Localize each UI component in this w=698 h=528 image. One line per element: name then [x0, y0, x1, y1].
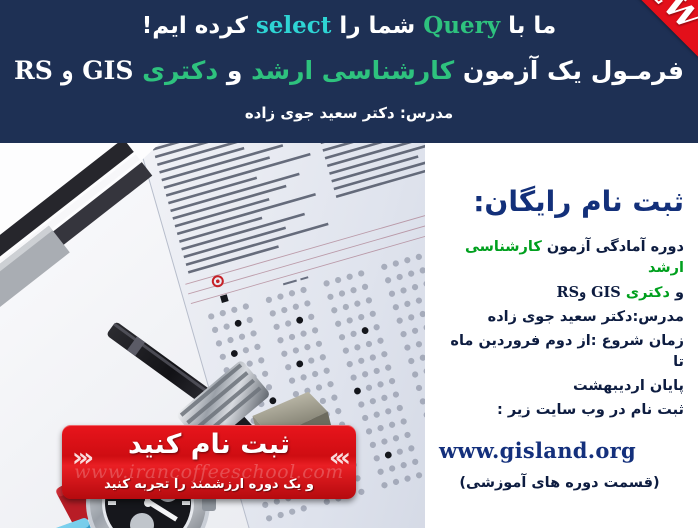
header-instructor-line: مدرس: دکتر سعید جوی زاده [0, 106, 698, 121]
panel-start-date-line-2: پایان اردیبهشت [435, 376, 684, 398]
headline2-part1: فرمـول یک آزمون [454, 56, 684, 85]
register-cta-subtitle: و یک دوره ارزشمند را تجربه کنید [62, 477, 356, 492]
headline1-part2: شما را [331, 13, 423, 39]
header-headline-1: ما با Query شما را select کرده ایم! [0, 14, 698, 38]
header-banner: ما با Query شما را select کرده ایم! فرمـ… [0, 0, 698, 143]
course-line-1-part1: دوره آمادگی آزمون [542, 239, 684, 255]
headline1-part3: کرده ایم! [142, 13, 256, 39]
info-panel: ثبت نام رایگان: دوره آمادگی آزمون کارشنا… [425, 143, 698, 528]
course-line-2-part2: GIS وRS [557, 284, 626, 301]
panel-body: دوره آمادگی آزمون کارشناسی ارشد و دکتری … [435, 237, 684, 422]
poster-root: ما با Query شما را select کرده ایم! فرمـ… [0, 0, 698, 528]
register-cta-label: ثبت نام کنید [62, 430, 356, 460]
headline2-green-phd: دکتری [142, 56, 218, 85]
register-cta-button[interactable]: ››› ‹‹‹ ثبت نام کنید www.irancoffeeschoo… [62, 425, 356, 499]
website-url-link[interactable]: www.gisland.org [439, 438, 684, 463]
panel-instructor: مدرس:دکتر سعید جوی زاده [435, 307, 684, 329]
course-line-2-green: دکتری [626, 285, 670, 301]
course-line-1: دوره آمادگی آزمون کارشناسی ارشد [435, 237, 684, 281]
panel-title: ثبت نام رایگان: [435, 185, 684, 219]
panel-section-note: (قسمت دوره های آموزشی) [435, 475, 684, 491]
course-line-2: و دکتری GIS وRS [435, 282, 684, 305]
panel-register-label: ثبت نام در وب سایت زیر : [435, 400, 684, 422]
headline1-keyword-select: select [256, 12, 332, 39]
panel-start-date-line-1: زمان شروع :از دوم فروردین ماه تا [435, 331, 684, 375]
headline2-part2: و [218, 56, 251, 85]
headline2-green-masters: کارشناسی ارشد [251, 56, 454, 85]
headline1-keyword-query: Query [423, 12, 500, 39]
headline1-part1: ما با [500, 13, 556, 39]
course-line-2-part1: و [670, 285, 684, 301]
headline2-part3: GIS و RS [14, 56, 142, 85]
header-headline-2: فرمـول یک آزمون کارشناسی ارشد و دکتری GI… [0, 58, 698, 83]
